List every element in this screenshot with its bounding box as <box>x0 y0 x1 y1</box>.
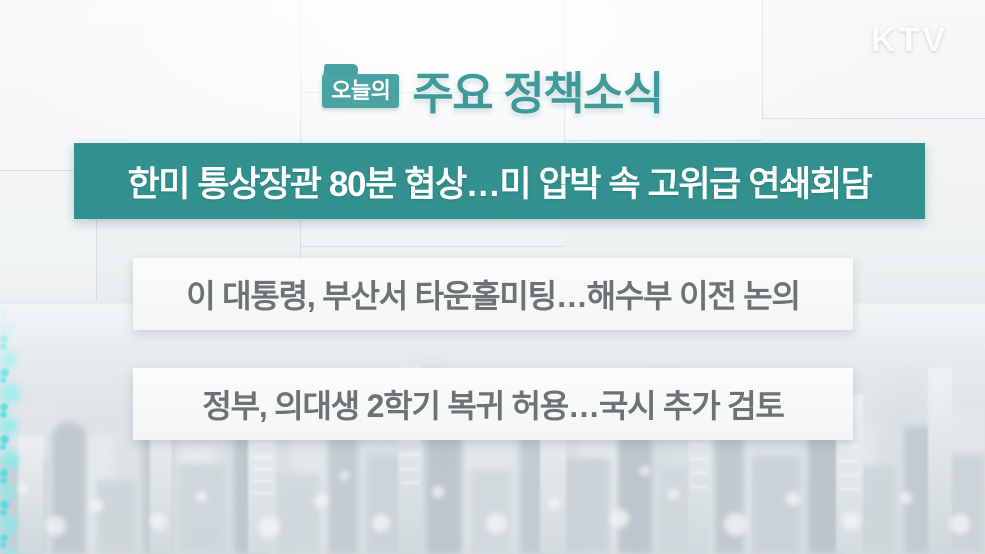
ktv-channel-logo: KTV <box>871 21 948 60</box>
page-title: 주요 정책소식 <box>412 57 662 122</box>
headline-banner-primary[interactable]: 한미 통상장관 80분 협상…미 압박 속 고위급 연쇄회담 <box>74 143 925 219</box>
headline-bar-secondary[interactable]: 이 대통령, 부산서 타운홀미팅…해수부 이전 논의 <box>133 258 853 330</box>
headline-3-text: 정부, 의대생 2학기 복귀 허용…국시 추가 검토 <box>202 381 783 427</box>
today-badge: 오늘의 <box>322 74 399 108</box>
broadcast-graphic-stage: KTV 오늘의 주요 정책소식 한미 통상장관 80분 협상…미 압박 속 고위… <box>0 0 985 554</box>
headline-bar-tertiary[interactable]: 정부, 의대생 2학기 복귀 허용…국시 추가 검토 <box>133 368 853 440</box>
today-badge-wrapper: 오늘의 <box>322 73 399 105</box>
headline-2-text: 이 대통령, 부산서 타운홀미팅…해수부 이전 논의 <box>186 271 800 317</box>
headline-1-text: 한미 통상장관 80분 협상…미 압박 속 고위급 연쇄회담 <box>127 156 871 207</box>
program-title-row: 오늘의 주요 정책소식 <box>0 58 985 120</box>
